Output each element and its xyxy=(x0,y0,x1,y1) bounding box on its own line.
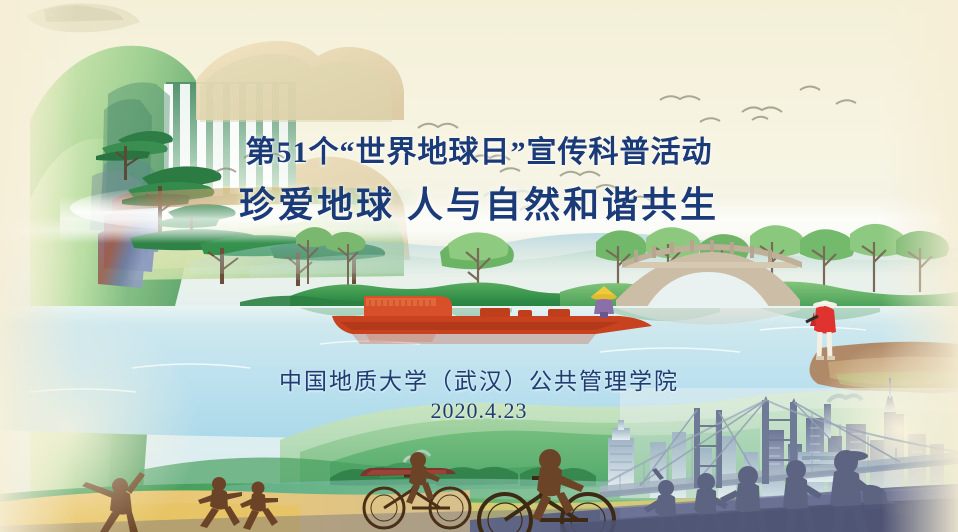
scene-illustration xyxy=(0,0,958,532)
earth-day-title-slide: 第51个“世界地球日”宣传科普活动 珍爱地球 人与自然和谐共生 中国地质大学（武… xyxy=(0,0,958,532)
